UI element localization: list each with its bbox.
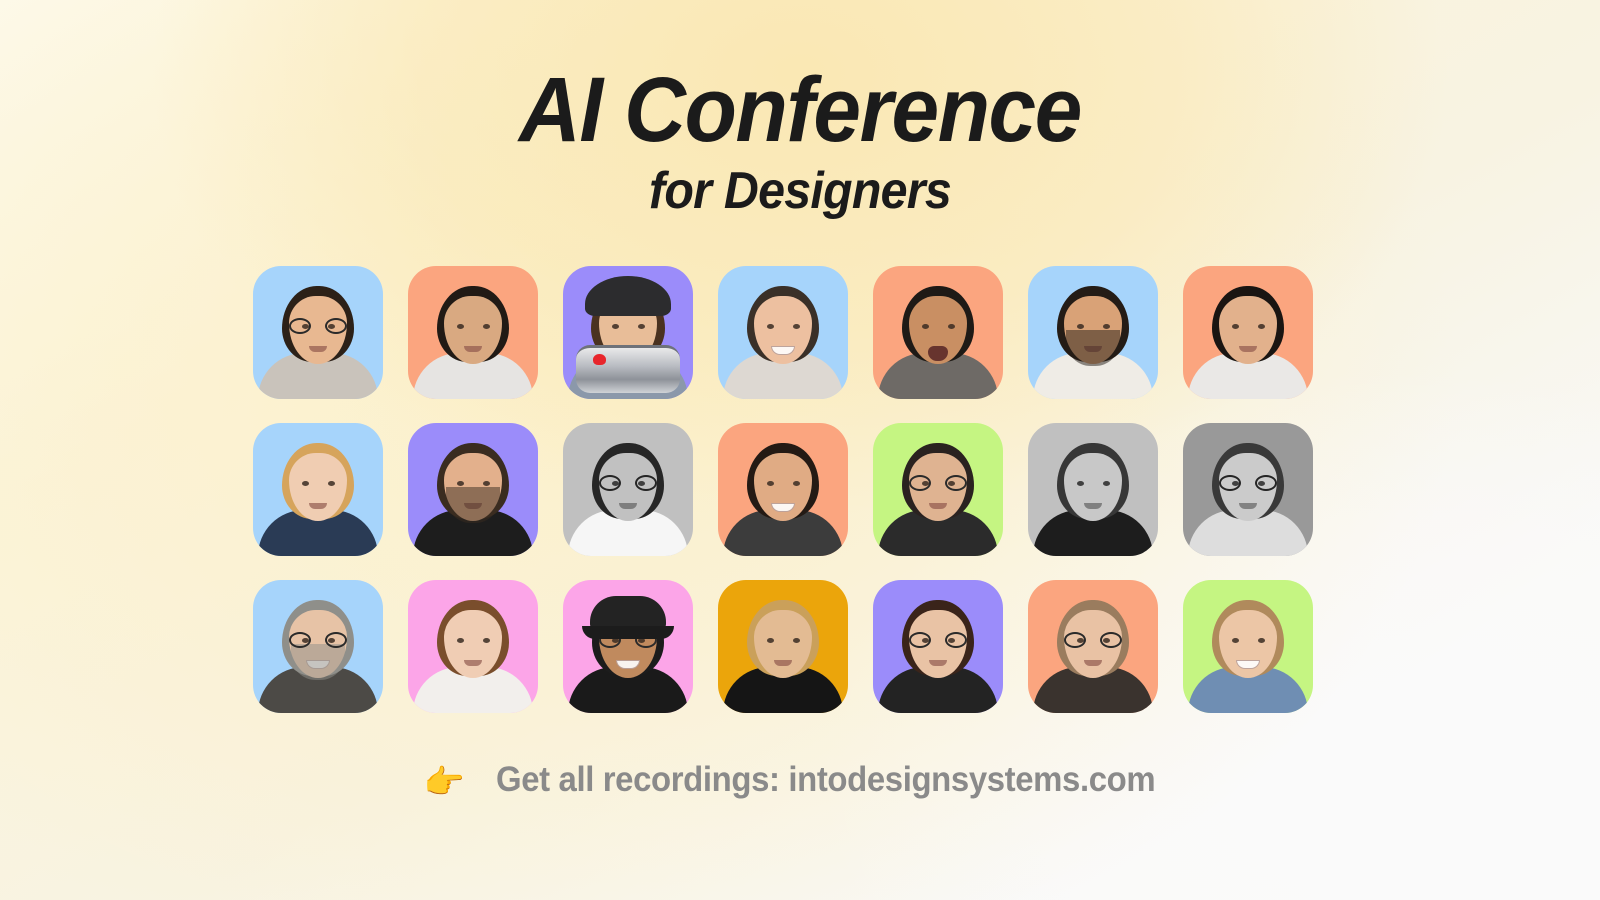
avatar-helmet-indicator xyxy=(593,354,606,365)
avatar-portrait xyxy=(873,423,1003,556)
avatar-eye-left xyxy=(767,481,774,486)
avatar-helmet-top xyxy=(585,276,671,316)
avatar-eye-left xyxy=(1077,324,1084,329)
speaker-avatar-9[interactable] xyxy=(408,423,538,556)
speaker-avatar-16[interactable] xyxy=(408,580,538,713)
speaker-avatar-1[interactable] xyxy=(253,266,383,399)
avatar-eye-right xyxy=(793,324,800,329)
pointing-right-hand-icon: 👉 xyxy=(424,763,465,800)
speaker-avatar-12[interactable] xyxy=(873,423,1003,556)
speaker-avatar-20[interactable] xyxy=(1028,580,1158,713)
avatar-eye-right xyxy=(483,638,490,643)
avatar-eye-right xyxy=(1258,324,1265,329)
speaker-avatar-5[interactable] xyxy=(873,266,1003,399)
speaker-avatar-10[interactable] xyxy=(563,423,693,556)
avatar-eye-right xyxy=(793,481,800,486)
avatar-eye-right xyxy=(1103,481,1110,486)
avatar-eye-left xyxy=(1232,638,1239,643)
avatar-eye-right xyxy=(483,481,490,486)
speaker-avatar-6[interactable] xyxy=(1028,266,1158,399)
avatar-portrait xyxy=(718,423,848,556)
footer-cta: 👉Get all recordings: intodesignsystems.c… xyxy=(0,760,1600,802)
speaker-avatar-18[interactable] xyxy=(718,580,848,713)
speaker-avatar-19[interactable] xyxy=(873,580,1003,713)
speaker-avatar-grid xyxy=(253,266,1313,713)
avatar-cap xyxy=(590,596,666,630)
avatar-cap-brim xyxy=(582,626,674,639)
avatar-eye-left xyxy=(457,481,464,486)
avatar-eye-left xyxy=(457,638,464,643)
speaker-avatar-13[interactable] xyxy=(1028,423,1158,556)
headline: AI Conference for Designers xyxy=(0,66,1600,217)
avatar-eye-right xyxy=(1103,324,1110,329)
avatar-eye-left xyxy=(767,324,774,329)
avatar-portrait xyxy=(718,580,848,713)
avatar-eye-left xyxy=(302,481,309,486)
avatar-eye-left xyxy=(612,324,619,329)
avatar-glasses xyxy=(1219,475,1277,491)
speaker-avatar-17[interactable] xyxy=(563,580,693,713)
avatar-portrait xyxy=(1183,423,1313,556)
avatar-eye-right xyxy=(948,324,955,329)
avatar-glasses xyxy=(909,475,967,491)
speaker-avatar-21[interactable] xyxy=(1183,580,1313,713)
footer-cta-label: Get all recordings: intodesignsystems.co… xyxy=(496,760,1155,800)
avatar-glasses xyxy=(289,632,347,648)
avatar-glasses xyxy=(909,632,967,648)
avatar-portrait xyxy=(253,266,383,399)
poster-canvas: AI Conference for Designers 👉Get all rec… xyxy=(0,0,1600,900)
avatar-eye-right xyxy=(328,481,335,486)
avatar-portrait xyxy=(563,266,693,399)
avatar-portrait xyxy=(563,423,693,556)
avatar-portrait xyxy=(1183,580,1313,713)
avatar-eye-right xyxy=(638,324,645,329)
avatar-eye-left xyxy=(457,324,464,329)
avatar-portrait xyxy=(408,580,538,713)
avatar-portrait xyxy=(1028,266,1158,399)
avatar-eye-left xyxy=(922,324,929,329)
avatar-glasses xyxy=(1064,632,1122,648)
page-subtitle: for Designers xyxy=(56,165,1544,217)
avatar-portrait xyxy=(1183,266,1313,399)
avatar-glasses xyxy=(289,318,347,334)
avatar-eye-right xyxy=(793,638,800,643)
avatar-portrait xyxy=(873,266,1003,399)
speaker-avatar-15[interactable] xyxy=(253,580,383,713)
avatar-eye-left xyxy=(1232,324,1239,329)
avatar-portrait xyxy=(563,580,693,713)
avatar-portrait xyxy=(253,423,383,556)
avatar-eye-left xyxy=(1077,481,1084,486)
avatar-helmet-ring xyxy=(576,345,680,393)
avatar-eye-right xyxy=(1258,638,1265,643)
speaker-avatar-4[interactable] xyxy=(718,266,848,399)
avatar-portrait xyxy=(408,423,538,556)
avatar-portrait xyxy=(408,266,538,399)
avatar-glasses xyxy=(599,475,657,491)
avatar-portrait xyxy=(253,580,383,713)
avatar-eye-right xyxy=(483,324,490,329)
speaker-avatar-8[interactable] xyxy=(253,423,383,556)
speaker-avatar-3[interactable] xyxy=(563,266,693,399)
speaker-avatar-11[interactable] xyxy=(718,423,848,556)
speaker-avatar-7[interactable] xyxy=(1183,266,1313,399)
page-title: AI Conference xyxy=(56,66,1544,155)
avatar-portrait xyxy=(718,266,848,399)
avatar-eye-left xyxy=(767,638,774,643)
avatar-portrait xyxy=(1028,580,1158,713)
avatar-portrait xyxy=(1028,423,1158,556)
speaker-avatar-14[interactable] xyxy=(1183,423,1313,556)
speaker-avatar-2[interactable] xyxy=(408,266,538,399)
avatar-portrait xyxy=(873,580,1003,713)
